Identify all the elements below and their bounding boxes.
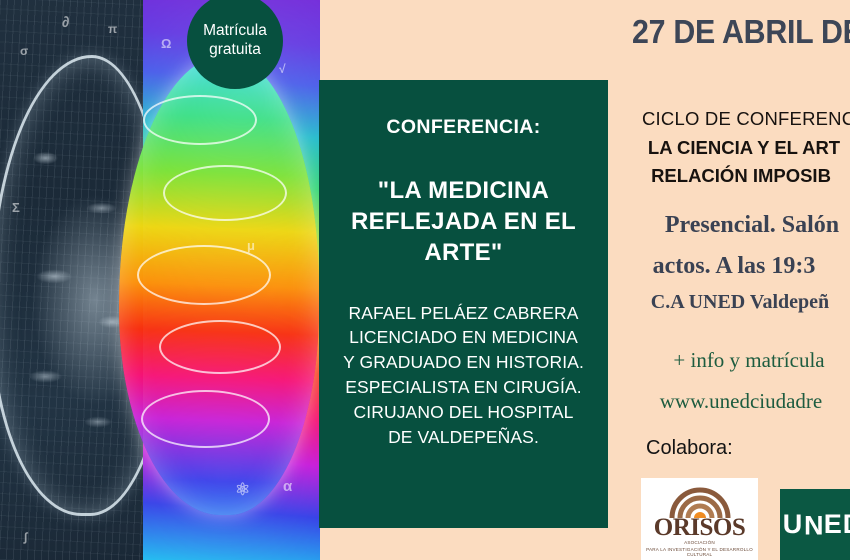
venue-line-2: actos. A las 19:3: [618, 253, 850, 280]
conference-cycle: CICLO DE CONFERENC LA CIENCIA Y EL ART R…: [608, 108, 850, 187]
badge-line-1: Matrícula: [203, 22, 267, 41]
speaker-bio-line-2: LICENCIADO EN MEDICINA: [335, 325, 592, 350]
event-poster: ∂ σ π Σ ∫ Ω √ μ ⚛ α Matrícula gratuita: [0, 0, 850, 560]
orisos-subtitle-2: PARA LA INVESTIGACIÓN Y EL DESARROLLO CU…: [641, 547, 758, 557]
uned-wordmark: UNED: [783, 509, 850, 540]
uned-letter-u: U: [783, 509, 804, 539]
conference-title: "LA MEDICINA REFLEJADA EN EL ARTE": [335, 175, 592, 269]
venue-details: Presencial. Salón actos. A las 19:3 C.A …: [608, 212, 850, 314]
conference-title-line-2: REFLEJADA EN EL: [335, 206, 592, 237]
event-date: 27 DE ABRIL DE 2: [632, 13, 850, 51]
speaker-bio-line-5: CIRUJANO DEL HOSPITAL: [335, 400, 592, 425]
cycle-line-1: CICLO DE CONFERENC: [642, 108, 850, 130]
venue-line-3: C.A UNED Valdepeñ: [630, 291, 850, 314]
website-url[interactable]: www.unedciudadre: [632, 389, 850, 414]
venue-line-1: Presencial. Salón: [654, 212, 850, 239]
conference-title-line-1: "LA MEDICINA: [335, 175, 592, 206]
orisos-logo: ORISOS ASOCIACIÓN PARA LA INVESTIGACIÓN …: [641, 478, 758, 560]
info-column: 27 DE ABRIL DE 2 CICLO DE CONFERENC LA C…: [608, 0, 850, 560]
speaker-bio-line-4: ESPECIALISTA EN CIRUGÍA.: [335, 375, 592, 400]
speaker-bio: RAFAEL PELÁEZ CABRERA LICENCIADO EN MEDI…: [335, 301, 592, 450]
uned-letters-ed: ED: [824, 509, 850, 539]
uned-letter-n: N: [803, 509, 824, 540]
badge-line-2: gratuita: [209, 41, 261, 60]
more-info: + info y matrícula www.unedciudadre: [608, 348, 850, 414]
orisos-subtitle-1: ASOCIACIÓN: [641, 540, 758, 545]
uned-logo: UNED: [780, 489, 850, 560]
collaborators-label: Colabora:: [646, 437, 733, 460]
speaker-bio-line-3: Y GRADUADO EN HISTORIA.: [335, 350, 592, 375]
speaker-bio-line-6: DE VALDEPEÑAS.: [335, 425, 592, 450]
speaker-name: RAFAEL PELÁEZ CABRERA: [335, 301, 592, 326]
orisos-wordmark: ORISOS: [641, 514, 758, 542]
orisos-rainbow-icon: [669, 484, 731, 518]
more-info-label: + info y matrícula: [648, 348, 850, 373]
cycle-line-3: RELACIÓN IMPOSIB: [632, 165, 850, 187]
conference-title-line-3: ARTE": [335, 237, 592, 268]
brain-artwork-image: ∂ σ π Σ ∫ Ω √ μ ⚛ α: [0, 0, 320, 560]
cycle-line-2: LA CIENCIA Y EL ART: [638, 137, 850, 159]
conference-heading: CONFERENCIA:: [335, 116, 592, 139]
conference-panel: CONFERENCIA: "LA MEDICINA REFLEJADA EN E…: [319, 80, 608, 528]
